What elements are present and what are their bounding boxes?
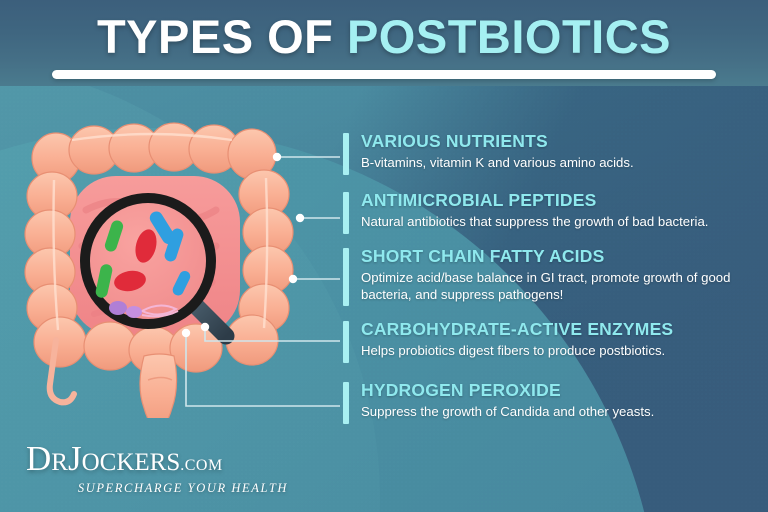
item-heading: ANTIMICROBIAL PEPTIDES xyxy=(361,189,753,211)
postbiotic-types-list: VARIOUS NUTRIENTS B-vitamins, vitamin K … xyxy=(343,130,753,428)
item-accent-bar xyxy=(343,382,349,424)
logo-jockers-rest: OCKERS xyxy=(82,449,181,476)
item-accent-bar xyxy=(343,248,349,306)
title-underline-bar xyxy=(52,70,716,79)
item-heading: HYDROGEN PEROXIDE xyxy=(361,379,753,401)
item-accent-bar xyxy=(343,321,349,363)
header-band: TYPES OF POSTBIOTICS xyxy=(0,0,768,86)
item-body: Optimize acid/base balance in GI tract, … xyxy=(361,270,751,303)
item-heading: SHORT CHAIN FATTY ACIDS xyxy=(361,245,753,267)
list-item: VARIOUS NUTRIENTS B-vitamins, vitamin K … xyxy=(343,130,753,172)
list-item: SHORT CHAIN FATTY ACIDS Optimize acid/ba… xyxy=(343,245,753,303)
page-title: TYPES OF POSTBIOTICS xyxy=(0,6,768,68)
item-heading: CARBOHYDRATE-ACTIVE ENZYMES xyxy=(361,318,753,340)
list-item: ANTIMICROBIAL PEPTIDES Natural antibioti… xyxy=(343,189,753,231)
item-heading: VARIOUS NUTRIENTS xyxy=(361,130,753,152)
logo-letter-j: J xyxy=(68,439,82,478)
logo-wordmark: DRJOCKERS.COM xyxy=(26,440,296,485)
item-accent-bar xyxy=(343,192,349,234)
item-accent-bar xyxy=(343,133,349,175)
list-item: CARBOHYDRATE-ACTIVE ENZYMES Helps probio… xyxy=(343,318,753,360)
logo-letter-d: D xyxy=(26,439,51,478)
logo-domain: .COM xyxy=(180,457,222,474)
page-title-part-2: POSTBIOTICS xyxy=(347,10,671,63)
infographic-canvas: TYPES OF POSTBIOTICS xyxy=(0,0,768,512)
item-body: Helps probiotics digest fibers to produc… xyxy=(361,343,751,360)
logo-letter-r: R xyxy=(51,449,68,476)
item-body: Suppress the growth of Candida and other… xyxy=(361,404,751,421)
item-body: Natural antibiotics that suppress the gr… xyxy=(361,214,751,231)
intestine-illustration xyxy=(14,118,324,418)
item-body: B-vitamins, vitamin K and various amino … xyxy=(361,155,751,172)
list-item: HYDROGEN PEROXIDE Suppress the growth of… xyxy=(343,379,753,421)
page-title-part-1: TYPES OF xyxy=(97,10,347,63)
brand-logo[interactable]: DRJOCKERS.COM SUPERCHARGE YOUR HEALTH xyxy=(26,440,296,496)
rectum xyxy=(140,354,177,418)
